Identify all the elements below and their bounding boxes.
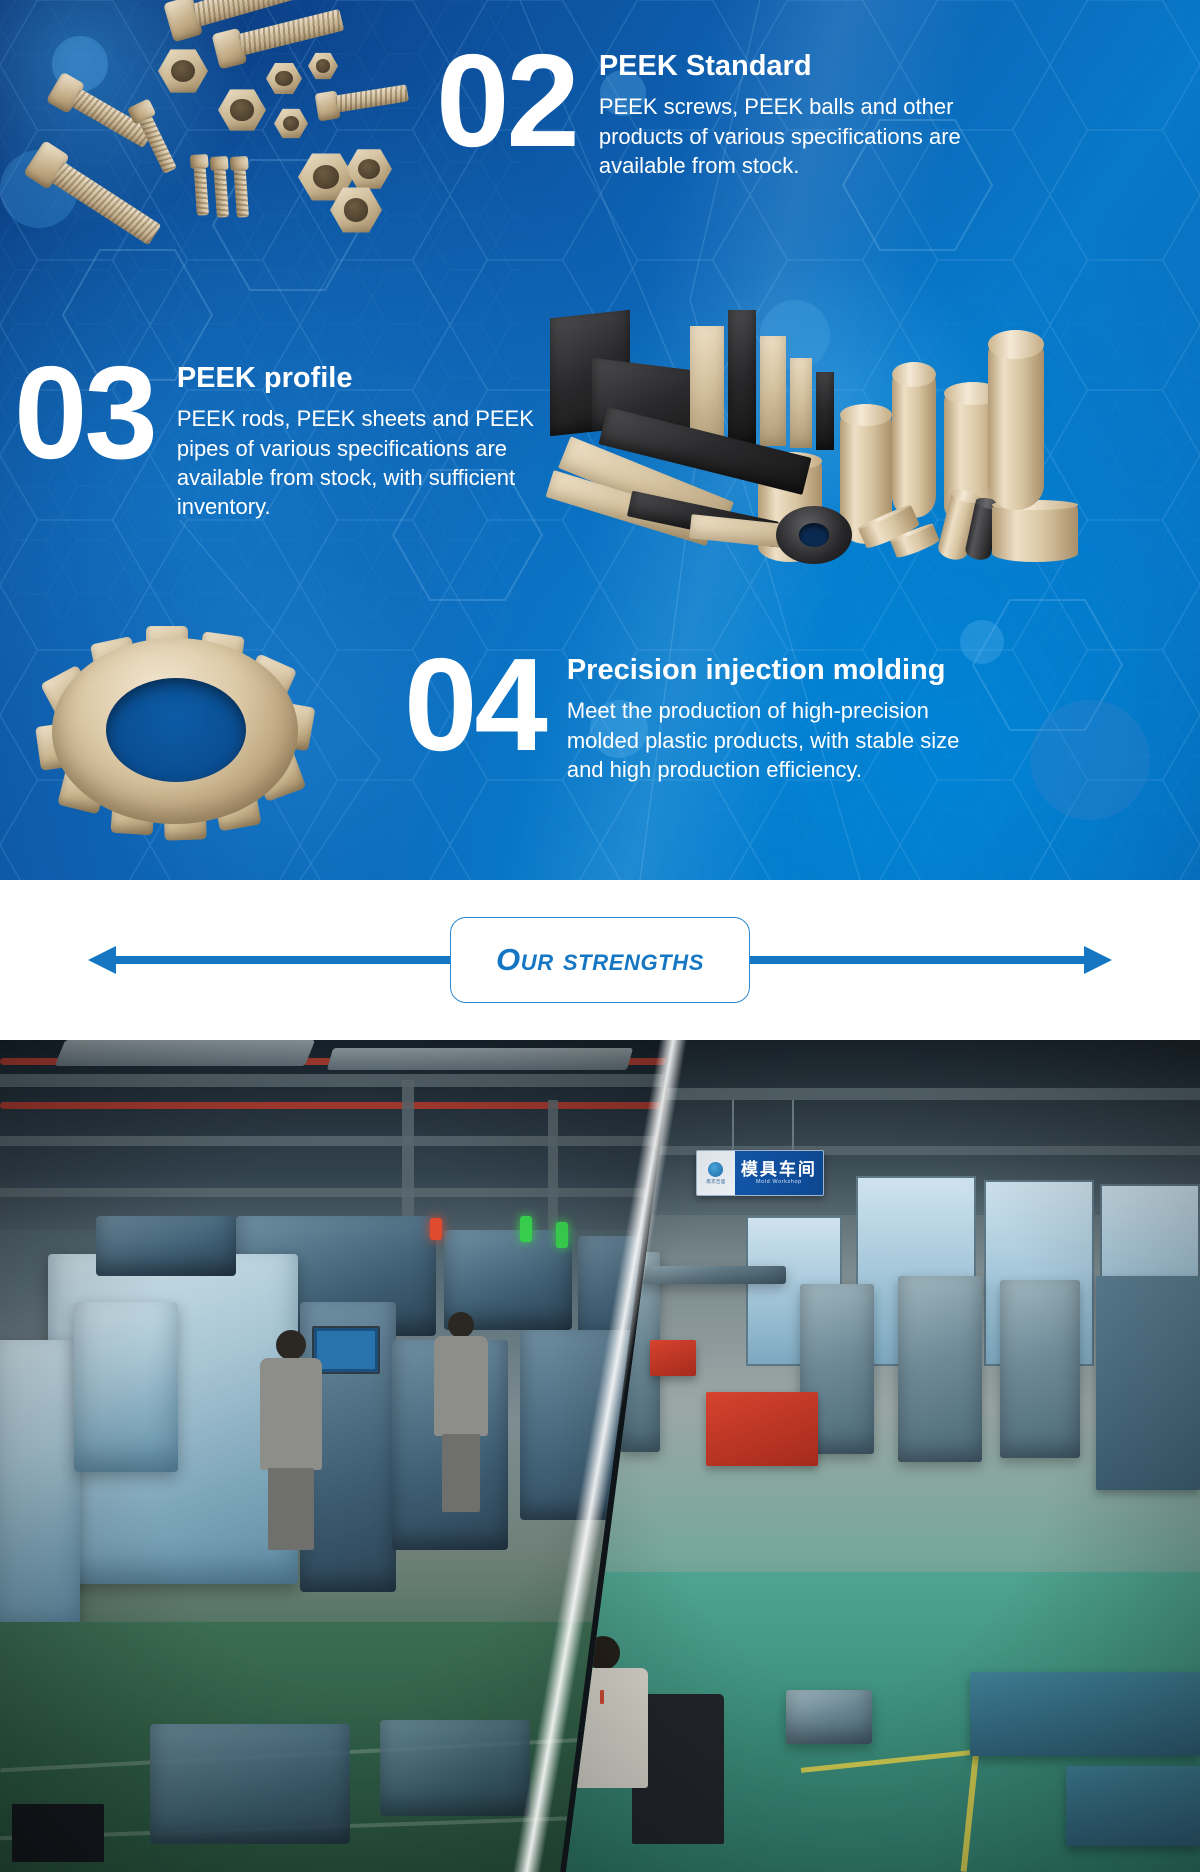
- pendant-wire: [732, 1100, 734, 1152]
- peek-nut: [218, 88, 266, 132]
- peek-black-bar: [728, 310, 756, 444]
- feature-number-04: 04: [404, 648, 545, 762]
- sign-logo: 南京吉盛: [697, 1151, 735, 1195]
- feature-number-03: 03: [14, 356, 155, 470]
- peek-black-ring: [776, 506, 852, 564]
- strengths-divider: Our strengths: [0, 880, 1200, 1040]
- feature-row-03: 03 PEEK profile PEEK rods, PEEK sheets a…: [14, 356, 537, 521]
- arrow-right-tip: [1084, 946, 1112, 974]
- peek-nut: [158, 48, 208, 94]
- peek-tan-bar: [790, 358, 812, 448]
- worker: [430, 1312, 492, 1512]
- milling-machine: [1000, 1280, 1080, 1458]
- peek-nut: [308, 52, 338, 80]
- sign-logo-mark: [708, 1162, 723, 1177]
- feature-row-04: 04 Precision injection molding Meet the …: [404, 648, 987, 784]
- feature-body-03: PEEK rods, PEEK sheets and PEEK pipes of…: [177, 404, 537, 521]
- strengths-label: Our strengths: [496, 942, 704, 977]
- machine-door: [74, 1302, 178, 1472]
- peek-machined-gear-image: [34, 616, 314, 846]
- air-duct: [55, 1040, 316, 1066]
- pendant-wire: [792, 1100, 794, 1152]
- gear-bore: [106, 678, 246, 782]
- work-bench: [1066, 1766, 1200, 1846]
- cnc-machine-column: [96, 1216, 236, 1276]
- work-cart: [380, 1720, 530, 1816]
- sign-text-chinese: 模具车间: [741, 1161, 817, 1179]
- monitor: [12, 1804, 104, 1862]
- peek-rod-tall: [988, 330, 1044, 510]
- peek-black-bar: [816, 372, 834, 450]
- peek-profiles-image: [540, 300, 1200, 600]
- factory-photo-collage: 南京吉盛 模具车间 Mold Workshop: [0, 1040, 1200, 1872]
- feature-row-02: 02 PEEK Standard PEEK screws, PEEK balls…: [436, 44, 981, 180]
- feature-body-04: Meet the production of high-precision mo…: [567, 696, 987, 784]
- hero-panel: 02 PEEK Standard PEEK screws, PEEK balls…: [0, 0, 1200, 880]
- worker: [252, 1330, 326, 1550]
- work-bench: [970, 1672, 1200, 1756]
- air-duct: [327, 1048, 633, 1070]
- feature-number-02: 02: [436, 44, 577, 158]
- red-pipe: [0, 1102, 700, 1109]
- status-light-red: [430, 1218, 442, 1240]
- feature-body-02: PEEK screws, PEEK balls and other produc…: [599, 92, 981, 180]
- peek-nut: [274, 108, 308, 139]
- peek-nut: [266, 62, 302, 95]
- decor-dot: [1030, 700, 1150, 820]
- sign-company-sub: 南京吉盛: [706, 1179, 725, 1185]
- peek-pipe-large: [992, 500, 1078, 562]
- radial-drill-arm: [636, 1266, 786, 1284]
- work-cart: [150, 1724, 350, 1844]
- feature-title-03: PEEK profile: [177, 362, 537, 395]
- peek-fasteners-image: [30, 0, 430, 260]
- feature-title-04: Precision injection molding: [567, 654, 987, 687]
- ceiling-beam: [0, 1074, 700, 1087]
- peek-rod: [892, 362, 936, 518]
- peek-nut: [346, 148, 392, 190]
- feature-title-02: PEEK Standard: [599, 50, 981, 83]
- ceiling-beam: [0, 1136, 700, 1146]
- peek-tan-bar: [760, 336, 786, 446]
- strengths-label-box: Our strengths: [450, 917, 750, 1003]
- workshop-sign: 南京吉盛 模具车间 Mold Workshop: [696, 1150, 824, 1196]
- sign-text-english: Mold Workshop: [756, 1179, 802, 1185]
- red-equipment: [650, 1340, 696, 1376]
- cnc-machine-main: [0, 1340, 80, 1640]
- status-light-green: [556, 1222, 568, 1248]
- status-light-green: [520, 1216, 532, 1242]
- mold-block: [786, 1690, 872, 1744]
- red-equipment: [706, 1392, 818, 1466]
- storage-shelf: [1096, 1276, 1200, 1490]
- arrow-left-tip: [88, 946, 116, 974]
- ceiling-beam: [0, 1188, 700, 1197]
- milling-machine: [898, 1276, 982, 1462]
